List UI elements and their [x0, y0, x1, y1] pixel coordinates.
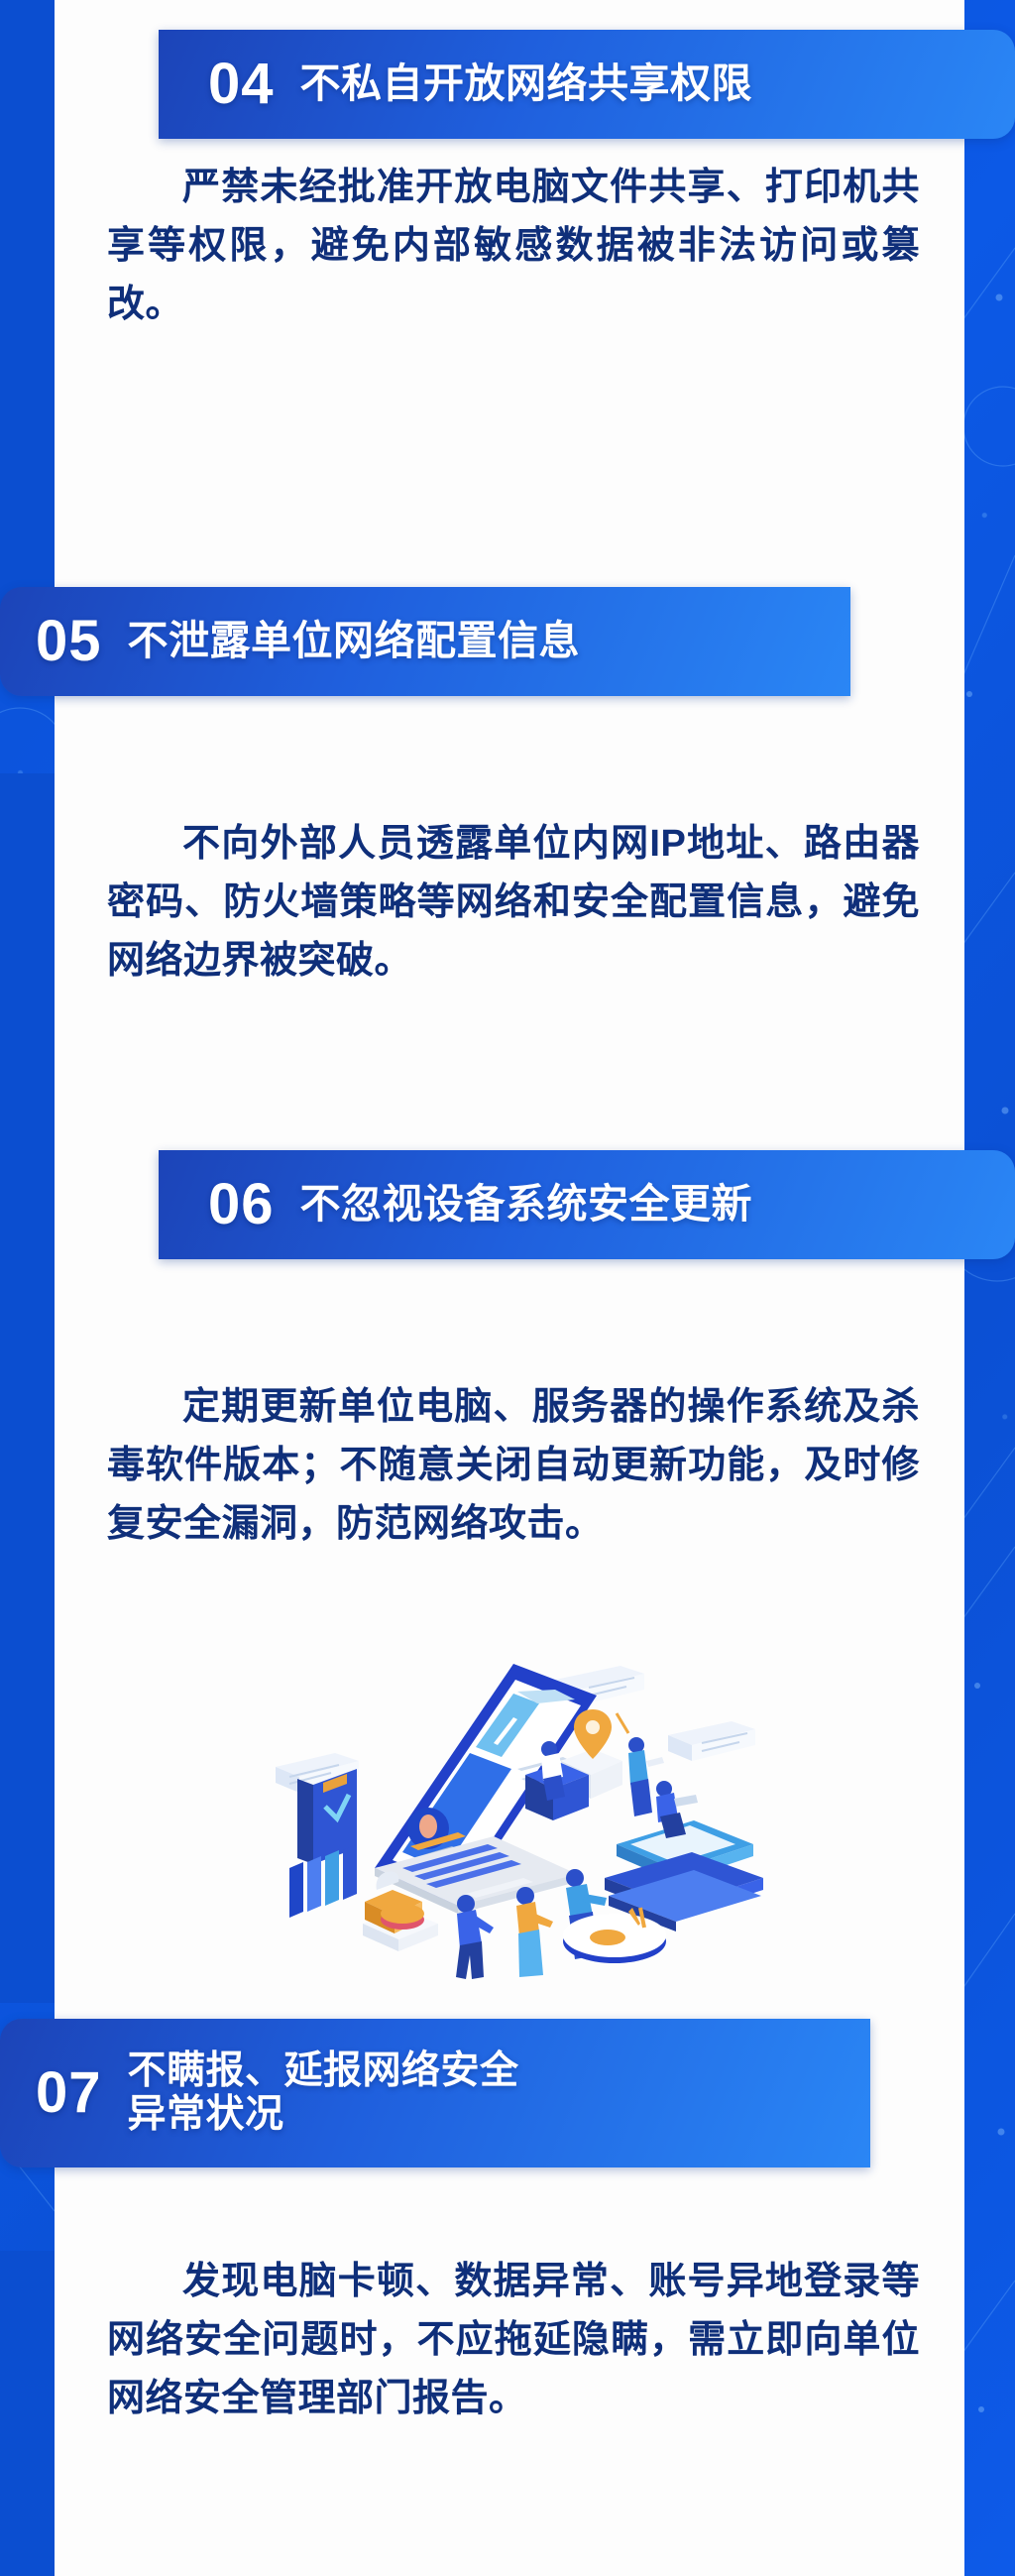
section-04-number: 04 — [208, 56, 275, 113]
section-07-title: 不瞒报、延报网络安全 异常状况 — [128, 2049, 519, 2136]
section-05-body: 不向外部人员透露单位内网IP地址、路由器密码、防火墙策略等网络和安全配置信息，避… — [107, 815, 920, 991]
note-card-icon-3 — [668, 1721, 755, 1761]
section-07-title-line1: 不瞒报、延报网络安全 — [128, 2049, 519, 2092]
section-05-header[interactable]: 05 不泄露单位网络配置信息 — [0, 587, 850, 696]
section-05-number: 05 — [36, 613, 102, 670]
section-06-number: 06 — [208, 1176, 275, 1233]
person-front-mid-icon — [516, 1887, 553, 1977]
left-rail-block-b — [0, 773, 55, 2003]
isometric-illustration — [228, 1658, 783, 1985]
content-panel — [55, 0, 964, 2576]
left-rail-block-c — [0, 2251, 55, 2576]
section-07-title-line2: 异常状况 — [128, 2093, 284, 2136]
section-06-title: 不忽视设备系统安全更新 — [300, 1182, 753, 1228]
section-07-number: 07 — [36, 2064, 102, 2122]
section-07-body: 发现电脑卡顿、数据异常、账号异地登录等网络安全问题时，不应拖延隐瞒，需立即向单位… — [107, 2253, 920, 2428]
section-07-header[interactable]: 07 不瞒报、延报网络安全 异常状况 — [0, 2019, 870, 2167]
section-04-header[interactable]: 04 不私自开放网络共享权限 — [159, 30, 1015, 139]
section-06-body: 定期更新单位电脑、服务器的操作系统及杀毒软件版本；不随意关闭自动更新功能，及时修… — [107, 1378, 920, 1554]
section-04-title: 不私自开放网络共享权限 — [300, 61, 753, 107]
section-05-title: 不泄露单位网络配置信息 — [128, 619, 581, 664]
section-06-header[interactable]: 06 不忽视设备系统安全更新 — [159, 1150, 1015, 1259]
infographic-page: 04 不私自开放网络共享权限 严禁未经批准开放电脑文件共享、打印机共享等权限，避… — [0, 0, 1015, 2576]
left-rail-block-a — [0, 0, 55, 615]
section-04-body: 严禁未经批准开放电脑文件共享、打印机共享等权限，避免内部敏感数据被非法访问或篡改… — [107, 159, 920, 334]
